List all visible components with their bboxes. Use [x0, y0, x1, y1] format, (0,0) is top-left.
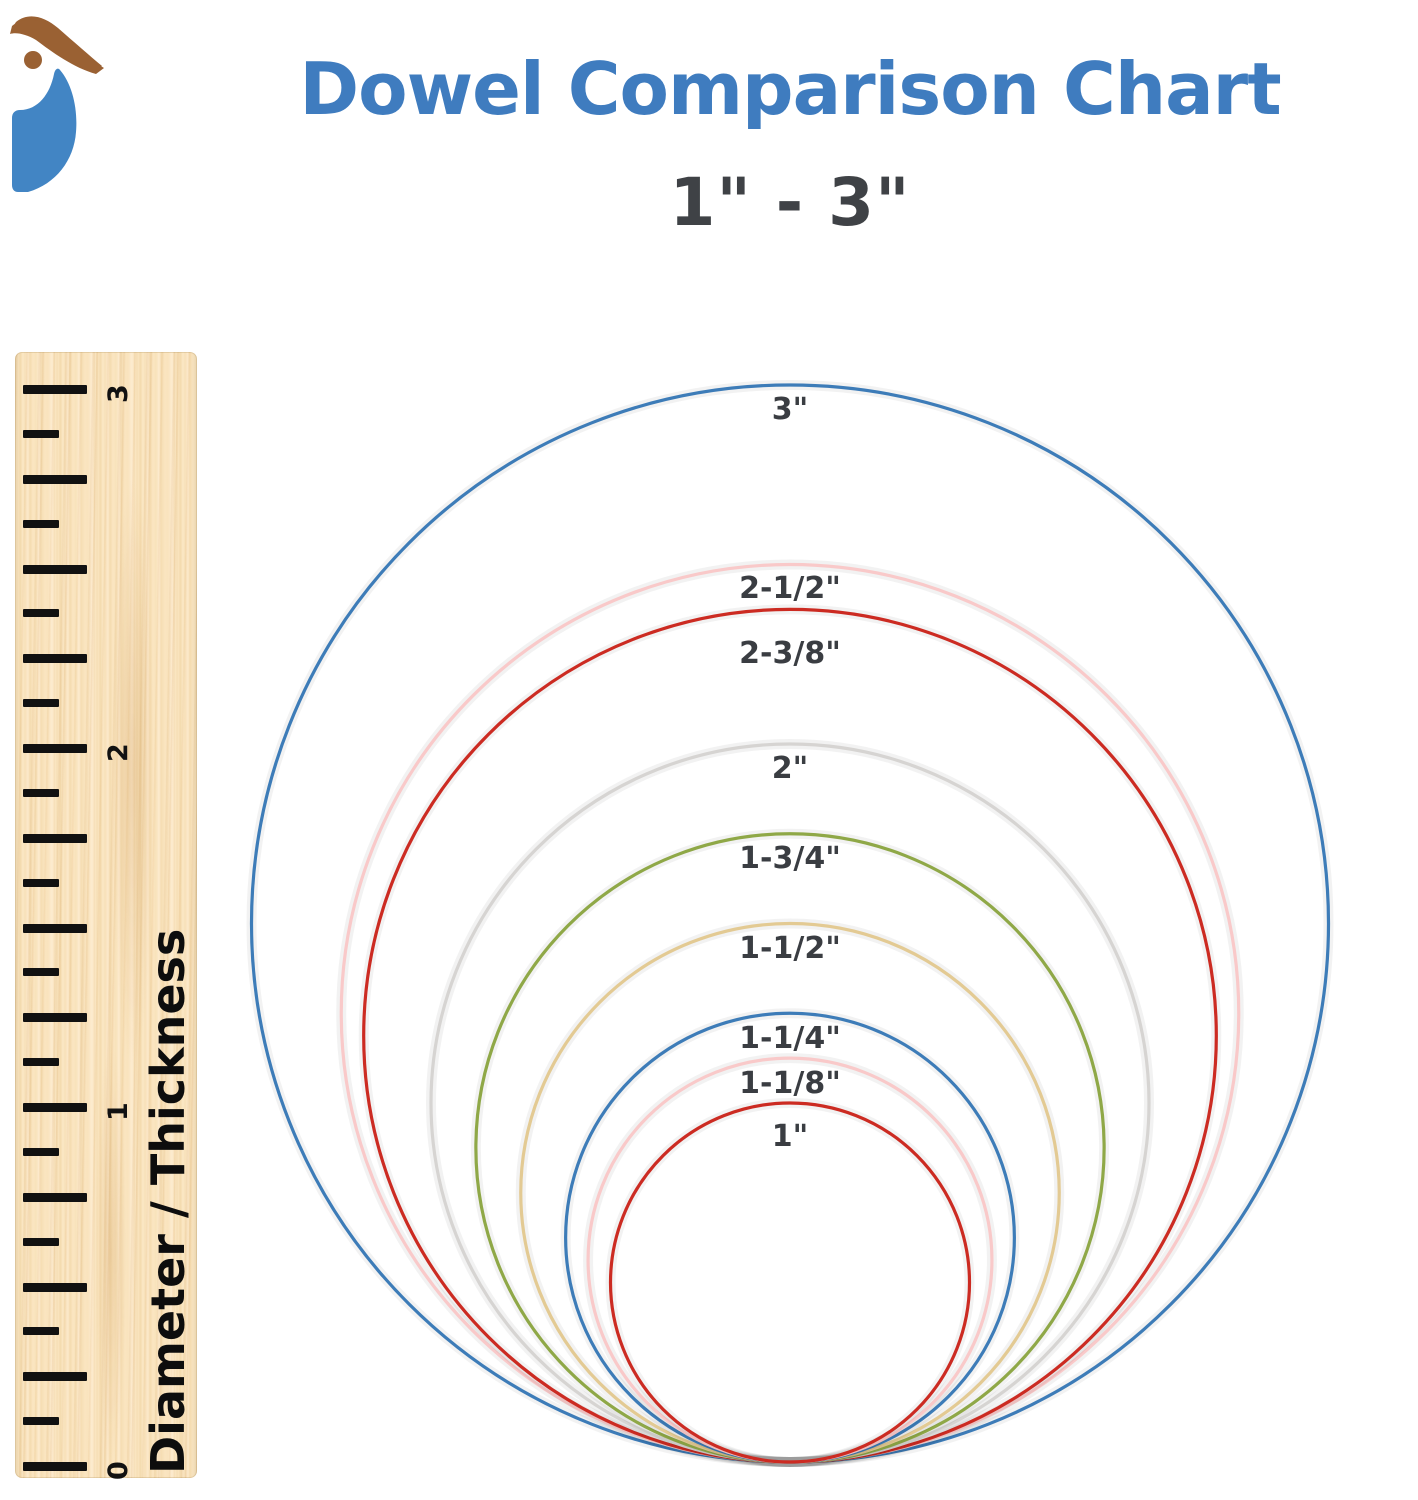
dowel-size-label: 3" — [772, 392, 809, 427]
dowel-circles — [0, 0, 1418, 1500]
dowel-circle-shadow — [611, 1103, 970, 1462]
dowel-size-label: 1" — [772, 1119, 809, 1154]
dowel-size-label: 2-3/8" — [739, 636, 841, 671]
dowel-size-label: 1-3/4" — [739, 841, 841, 876]
dowel-size-label: 1-1/4" — [739, 1021, 841, 1056]
dowel-comparison-chart-page: Dowel Comparison Chart 1" - 3" 0123 Diam… — [0, 0, 1418, 1500]
dowel-size-label: 2" — [772, 751, 809, 786]
dowel-size-label: 1-1/8" — [739, 1066, 841, 1101]
dowel-size-label: 2-1/2" — [739, 571, 841, 606]
dowel-size-label: 1-1/2" — [739, 931, 841, 966]
